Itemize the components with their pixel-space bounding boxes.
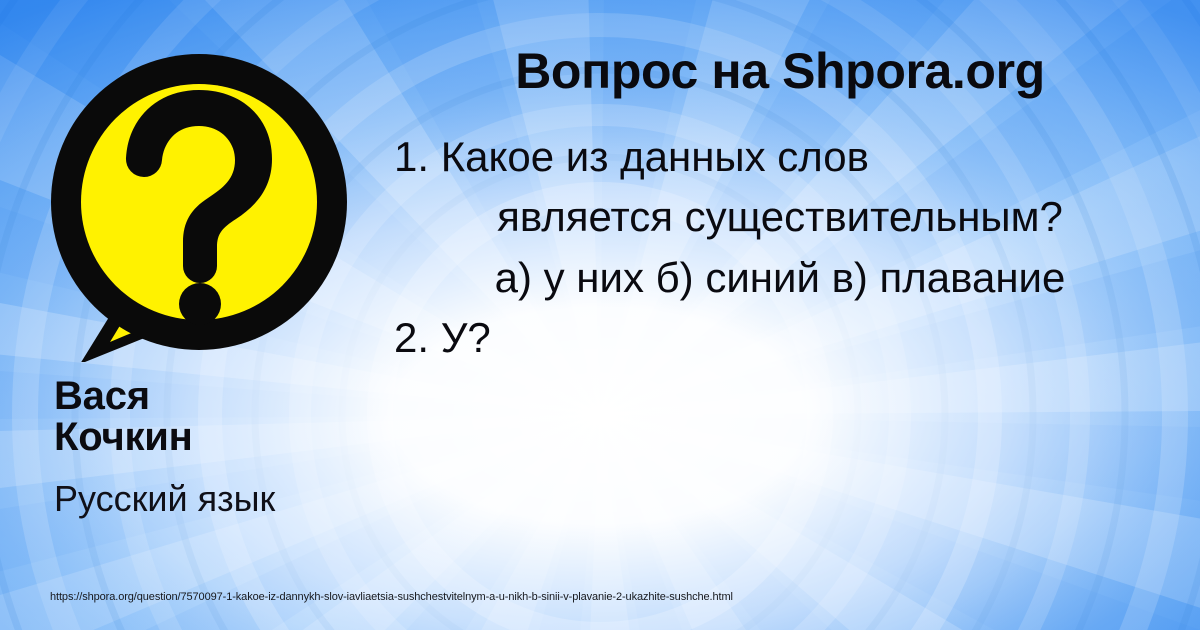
question-speech-bubble-icon — [44, 42, 354, 362]
question-line-3: а) у них б) синий в) плавание — [380, 248, 1180, 308]
author-subject: Русский язык — [54, 480, 384, 518]
page-title: Вопрос на Shpora.org — [380, 44, 1180, 99]
question-line-2: является существительным? — [380, 187, 1180, 247]
share-card: Вася Кочкин Русский язык Вопрос на Shpor… — [0, 0, 1200, 630]
content-column: Вопрос на Shpora.org 1. Какое из данных … — [380, 44, 1180, 369]
source-url[interactable]: https://shpora.org/question/7570097-1-ka… — [50, 591, 733, 603]
speech-bubble-shape — [44, 42, 354, 362]
question-line-4: 2. У? — [380, 308, 1180, 368]
author-block: Вася Кочкин Русский язык — [54, 376, 384, 517]
question-line-1: 1. Какое из данных слов — [380, 127, 1180, 187]
author-name: Вася Кочкин — [54, 376, 384, 458]
question-text: 1. Какое из данных слов является существ… — [380, 127, 1180, 369]
